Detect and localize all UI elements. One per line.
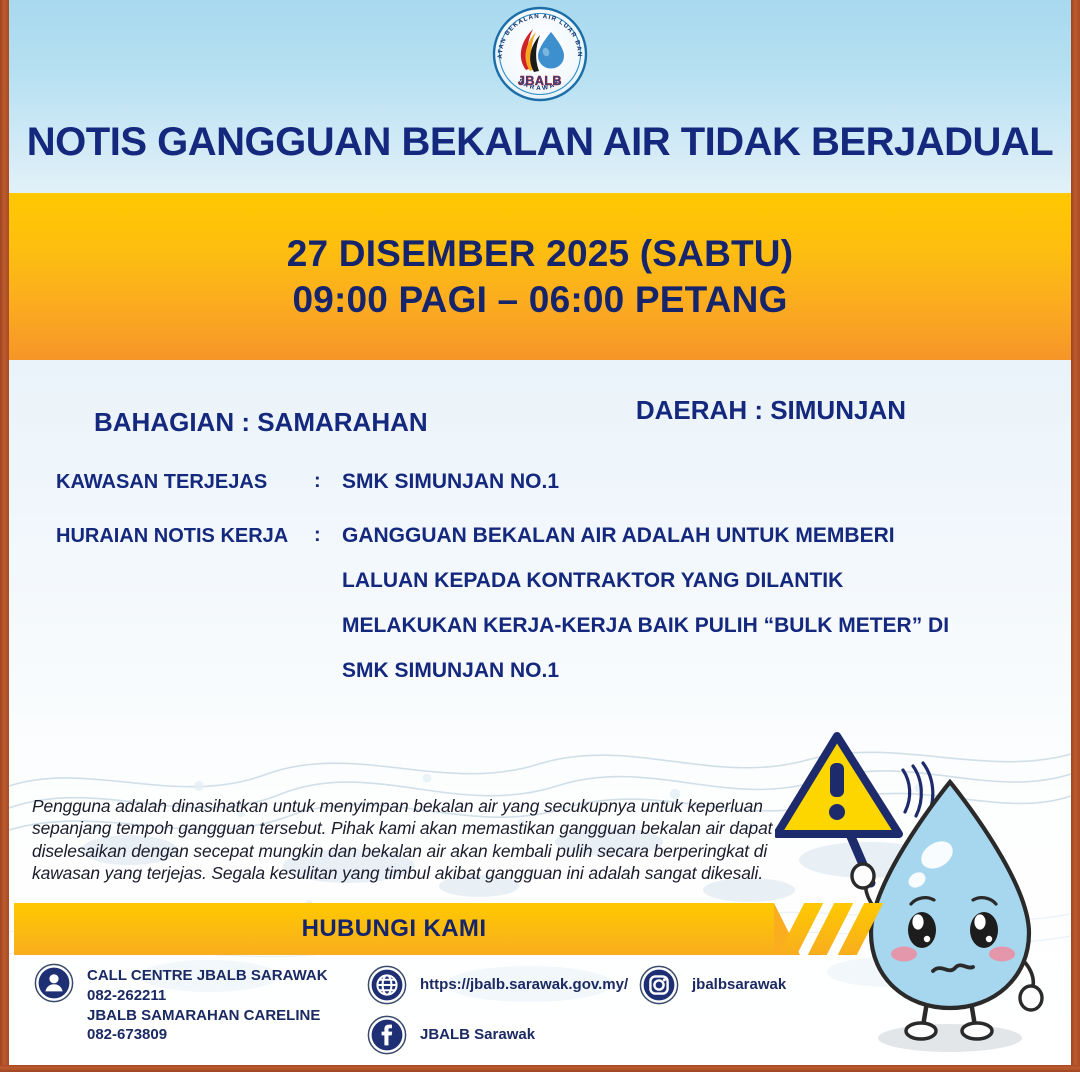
globe-icon xyxy=(367,965,407,1005)
poster-body: BAHAGIAN : SAMARAHAN DAERAH : SIMUNJAN K… xyxy=(9,360,1071,1065)
contact-call-centre: CALL CENTRE JBALB SARAWAK 082-262211 JBA… xyxy=(34,963,328,1045)
date-time-banner: 27 DISEMBER 2025 (SABTU) 09:00 PAGI – 06… xyxy=(9,193,1071,360)
instagram-icon xyxy=(639,965,679,1005)
bahagian-label: BAHAGIAN : SAMARAHAN xyxy=(94,407,428,438)
kawasan-terjejas-value: SMK SIMUNJAN NO.1 xyxy=(342,470,559,494)
call-centre-line-1: CALL CENTRE JBALB SARAWAK xyxy=(87,966,328,986)
frame-border-left xyxy=(0,0,9,1072)
huraian-notis-kerja-value: GANGGUAN BEKALAN AIR ADALAH UNTUK MEMBER… xyxy=(342,524,949,683)
page-title: NOTIS GANGGUAN BEKALAN AIR TIDAK BERJADU… xyxy=(9,120,1071,165)
water-disruption-notice-poster: JABATAN BEKALAN AIR LUAR BANDAR SARAWAK … xyxy=(0,0,1080,1072)
hubungi-kami-banner: HUBUNGI KAMI xyxy=(14,903,774,955)
huraian-line-3: MELAKUKAN KERJA-KERJA BAIK PULIH “BULK M… xyxy=(342,614,949,638)
disclaimer-text: Pengguna adalah dinasihatkan untuk menyi… xyxy=(32,795,774,885)
call-centre-line-3: JBALB SAMARAHAN CARELINE xyxy=(87,1006,328,1026)
call-centre-line-2: 082-262211 xyxy=(87,986,328,1006)
website-url[interactable]: https://jbalb.sarawak.gov.my/ xyxy=(420,965,628,995)
contact-header-label: HUBUNGI KAMI xyxy=(302,915,487,943)
frame-border-right xyxy=(1071,0,1080,1072)
huraian-notis-kerja-label: HURAIAN NOTIS KERJA xyxy=(56,524,314,683)
person-icon xyxy=(34,963,74,1003)
contact-website[interactable]: https://jbalb.sarawak.gov.my/ xyxy=(367,965,628,1005)
svg-text:JBALB: JBALB xyxy=(518,74,562,88)
huraian-line-2: LALUAN KEPADA KONTRAKTOR YANG DILANTIK xyxy=(342,569,949,593)
kawasan-terjejas-colon: : xyxy=(314,470,342,494)
contact-list: CALL CENTRE JBALB SARAWAK 082-262211 JBA… xyxy=(9,963,1071,1063)
daerah-label: DAERAH : SIMUNJAN xyxy=(636,395,906,438)
frame-border-bottom xyxy=(0,1065,1080,1072)
disruption-date: 27 DISEMBER 2025 (SABTU) xyxy=(287,233,794,275)
contact-instagram[interactable]: jbalbsarawak xyxy=(639,965,786,1005)
contact-facebook[interactable]: JBALB Sarawak xyxy=(367,1015,535,1055)
huraian-line-1: GANGGUAN BEKALAN AIR ADALAH UNTUK MEMBER… xyxy=(342,524,949,548)
kawasan-terjejas-label: KAWASAN TERJEJAS xyxy=(56,470,314,494)
detail-row-kawasan-terjejas: KAWASAN TERJEJAS : SMK SIMUNJAN NO.1 xyxy=(9,470,1071,494)
call-centre-text: CALL CENTRE JBALB SARAWAK 082-262211 JBA… xyxy=(87,963,328,1045)
poster-header: JABATAN BEKALAN AIR LUAR BANDAR SARAWAK … xyxy=(9,0,1071,193)
instagram-handle[interactable]: jbalbsarawak xyxy=(692,965,786,995)
facebook-handle[interactable]: JBALB Sarawak xyxy=(420,1015,535,1045)
jbalb-sarawak-logo: JABATAN BEKALAN AIR LUAR BANDAR SARAWAK … xyxy=(490,4,590,104)
huraian-notis-kerja-colon: : xyxy=(314,524,342,683)
notice-details: KAWASAN TERJEJAS : SMK SIMUNJAN NO.1 HUR… xyxy=(9,470,1071,713)
kawasan-line: SMK SIMUNJAN NO.1 xyxy=(342,470,559,494)
disruption-time: 09:00 PAGI – 06:00 PETANG xyxy=(292,279,787,321)
contact-header-bar: HUBUNGI KAMI xyxy=(9,903,1071,955)
huraian-line-4: SMK SIMUNJAN NO.1 xyxy=(342,659,949,683)
facebook-icon xyxy=(367,1015,407,1055)
detail-row-huraian-notis-kerja: HURAIAN NOTIS KERJA : GANGGUAN BEKALAN A… xyxy=(9,524,1071,683)
call-centre-line-4: 082-673809 xyxy=(87,1025,328,1045)
region-row: BAHAGIAN : SAMARAHAN DAERAH : SIMUNJAN xyxy=(9,395,1071,438)
